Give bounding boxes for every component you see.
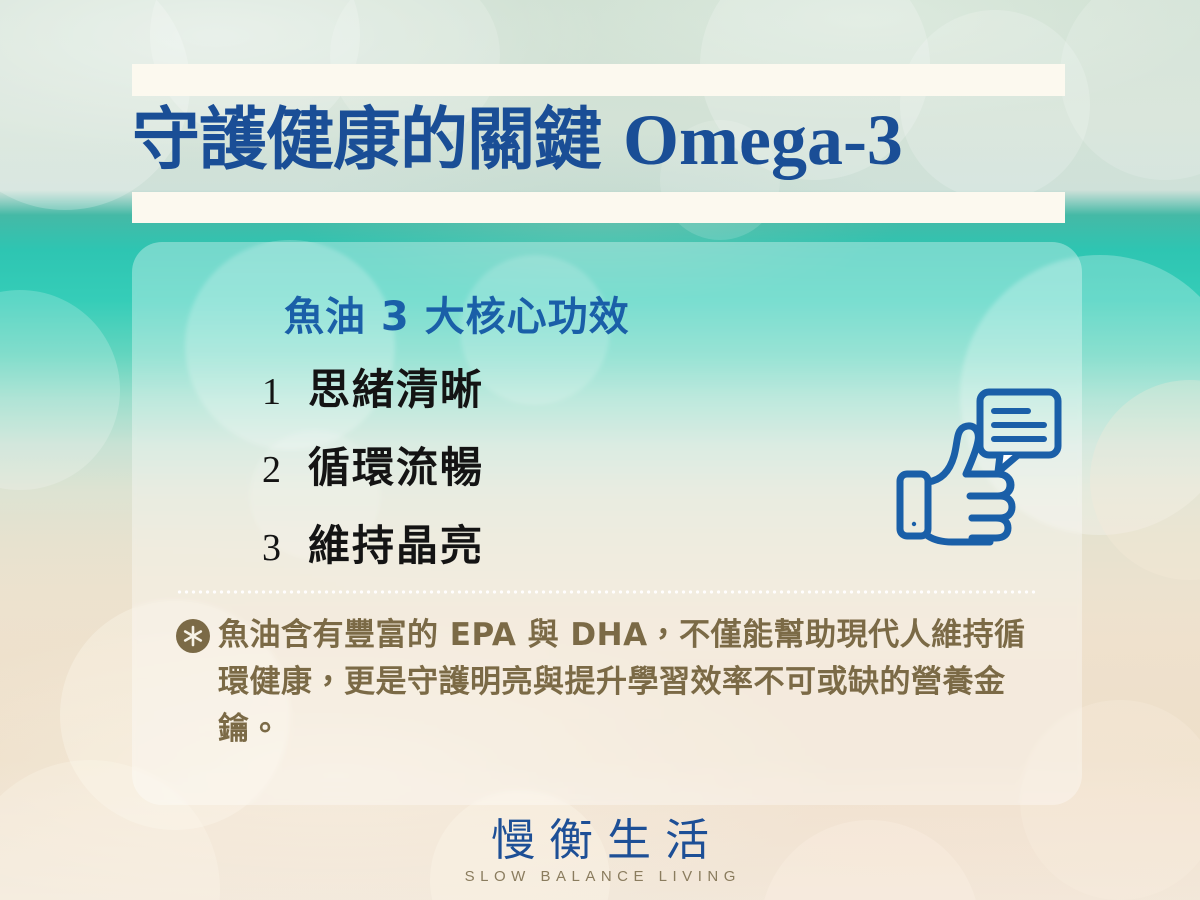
- list-item-label: 思緒清晰: [308, 356, 484, 417]
- poster-canvas: 守護健康的關鍵 Omega-3 魚油 3 大核心功效 1 思緒清晰 2 循環流暢…: [0, 0, 1200, 900]
- list-item-number: 2: [262, 448, 308, 492]
- list-item-label: 循環流暢: [308, 434, 484, 495]
- divider: [176, 590, 1038, 594]
- list-item-number: 1: [262, 370, 308, 414]
- header-band-bottom: [132, 192, 1065, 223]
- list-item: 3 維持晶亮: [262, 512, 782, 590]
- list-item-label: 維持晶亮: [308, 512, 484, 573]
- wrist-shape: [900, 474, 928, 536]
- footnote-text: 魚油含有豐富的 EPA 與 DHA，不僅能幫助現代人維持循環健康，更是守護明亮與…: [218, 612, 1046, 753]
- list-item-number: 3: [262, 526, 308, 570]
- page-title-cn: 守護健康的關鍵: [132, 106, 601, 174]
- benefit-list: 1 思緒清晰 2 循環流暢 3 維持晶亮: [262, 356, 782, 590]
- list-item: 1 思緒清晰: [262, 356, 782, 434]
- brand-name-en: SLOW BALANCE LIVING: [0, 868, 1200, 885]
- brand-logo: 慢衡生活 SLOW BALANCE LIVING: [0, 818, 1200, 885]
- footnote: 魚油含有豐富的 EPA 與 DHA，不僅能幫助現代人維持循環健康，更是守護明亮與…: [176, 612, 1046, 753]
- thumbs-up-icon: [894, 382, 1069, 557]
- content-card: 魚油 3 大核心功效 1 思緒清晰 2 循環流暢 3 維持晶亮: [132, 242, 1082, 805]
- page-title: 守護健康的關鍵 Omega-3: [132, 92, 1072, 188]
- page-title-en: Omega-3: [623, 104, 903, 176]
- brand-name-cn: 慢衡生活: [0, 818, 1200, 864]
- header-banner: 守護健康的關鍵 Omega-3: [0, 0, 1200, 235]
- section-heading: 魚油 3 大核心功效: [284, 284, 630, 342]
- list-item: 2 循環流暢: [262, 434, 782, 512]
- asterisk-icon: [176, 619, 210, 653]
